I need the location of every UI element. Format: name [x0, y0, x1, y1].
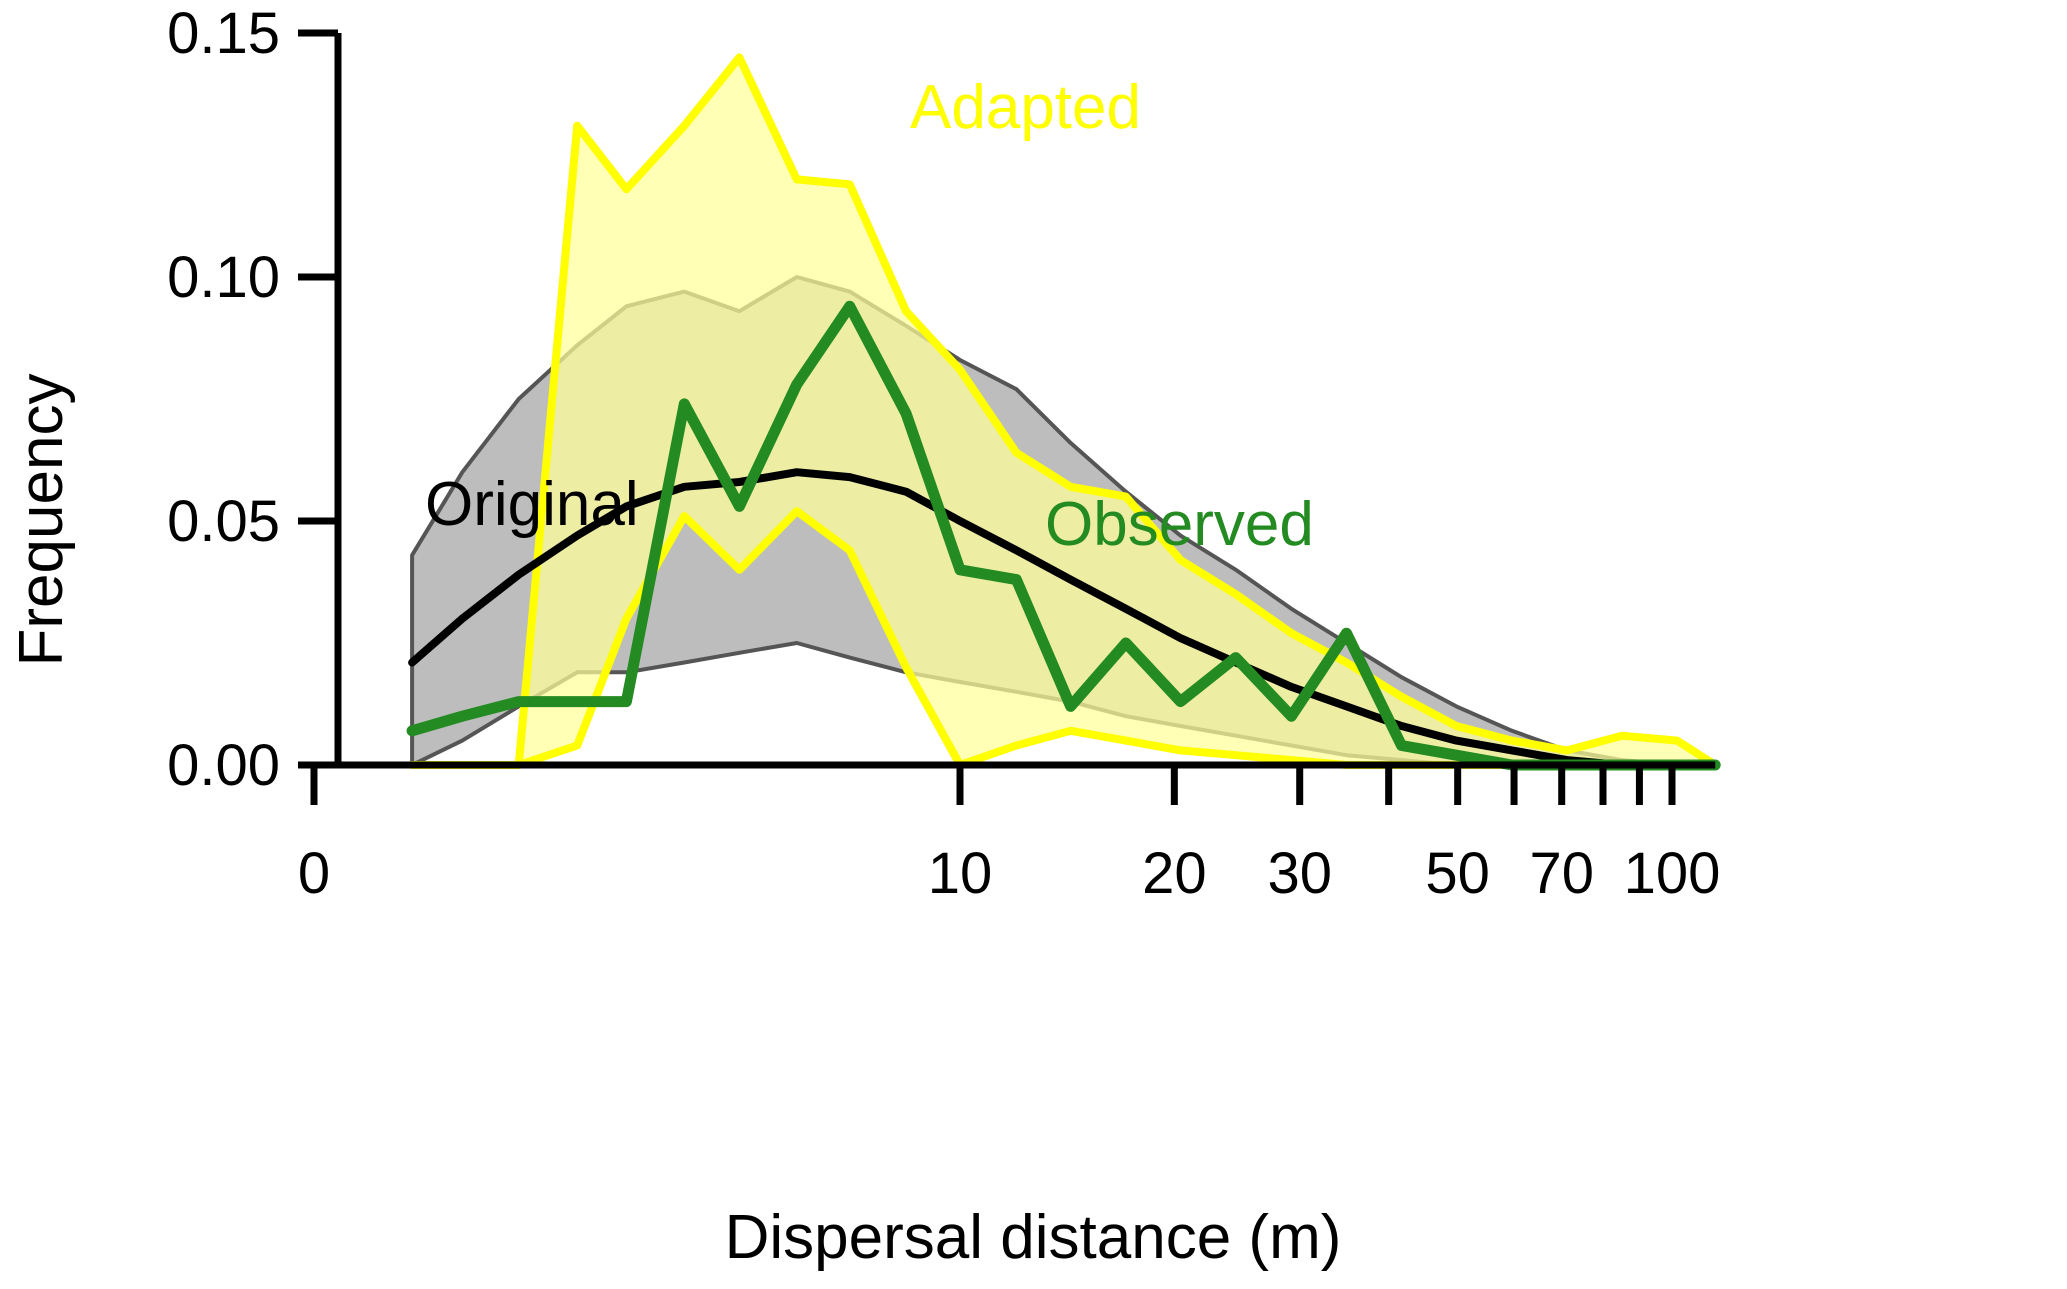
adapted-label: Adapted	[910, 73, 1141, 142]
x-tick-label-0: 0	[298, 841, 330, 906]
chart-figure: 0.000.050.100.1501020305070100 Dispersal…	[0, 0, 2067, 1289]
x-axis-title: Dispersal distance (m)	[725, 1203, 1342, 1272]
x-tick-label-30: 30	[1267, 841, 1332, 906]
adapted-band	[412, 57, 1715, 765]
x-tick-label-10: 10	[928, 841, 993, 906]
x-tick-label-70: 70	[1529, 841, 1594, 906]
y-tick-label-0.00: 0.00	[167, 733, 280, 798]
y-axis-title: Frequency	[7, 374, 76, 667]
x-tick-label-50: 50	[1425, 841, 1490, 906]
observed-label: Observed	[1045, 490, 1314, 559]
y-tick-label-0.15: 0.15	[167, 1, 280, 66]
y-tick-label-0.05: 0.05	[167, 489, 280, 554]
dispersal-frequency-chart: 0.000.050.100.1501020305070100 Dispersal…	[0, 0, 2067, 1289]
x-tick-label-100: 100	[1624, 841, 1721, 906]
x-tick-label-20: 20	[1142, 841, 1207, 906]
y-tick-label-0.10: 0.10	[167, 245, 280, 310]
original-label: Original	[425, 470, 639, 539]
